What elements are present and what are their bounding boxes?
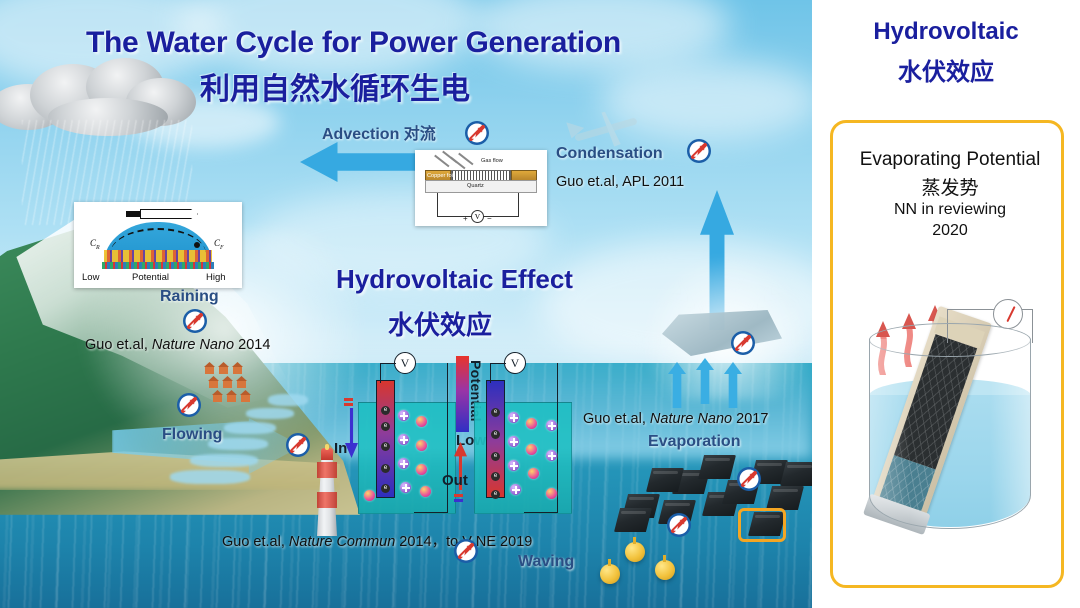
out-label: Out bbox=[442, 472, 468, 489]
card-line-4: 2020 bbox=[833, 222, 1067, 240]
right-panel: Hydrovoltaic 水伏效应 Evaporating Potential … bbox=[812, 0, 1080, 608]
center-heading-english: Hydrovoltaic Effect bbox=[336, 264, 573, 295]
compass-icon[interactable] bbox=[730, 330, 756, 356]
gas-flow-label: Gas flow bbox=[481, 158, 503, 164]
airplane-icon bbox=[560, 104, 652, 150]
terminal-plus: + bbox=[463, 214, 468, 223]
lighthouse bbox=[314, 444, 340, 536]
evaporating-potential-card: Evaporating Potential 蒸发势 NN in reviewin… bbox=[830, 120, 1064, 588]
cell-right-voltmeter: V bbox=[504, 352, 526, 374]
buoy bbox=[600, 564, 620, 584]
label-raining: Raining bbox=[160, 288, 219, 306]
wave-panel bbox=[646, 468, 684, 492]
evaporation-device-illustration bbox=[855, 291, 1049, 563]
compass-icon[interactable] bbox=[464, 120, 490, 146]
buoy bbox=[655, 560, 675, 580]
wave-panel bbox=[698, 455, 736, 479]
right-panel-title-english: Hydrovoltaic bbox=[812, 18, 1080, 46]
cell-left-wire bbox=[380, 363, 396, 383]
label-condensation: Condensation bbox=[556, 145, 663, 163]
pen-arrow-icon bbox=[126, 208, 198, 220]
axis-potential: Potential bbox=[132, 272, 169, 283]
cell-right-wire bbox=[490, 363, 506, 383]
water-cycle-scene: CR CF Low Potential High Gas flow Copper… bbox=[0, 0, 812, 608]
beaker-glass bbox=[869, 339, 1031, 529]
label-cf: CF bbox=[214, 238, 224, 251]
page-title-chinese: 利用自然水循环生电 bbox=[200, 64, 470, 108]
label-advection: Advection 对流 bbox=[322, 120, 436, 144]
compass-icon[interactable] bbox=[686, 138, 712, 164]
citation-nature-nano-2017: Guo et.al, Nature Nano 2017 bbox=[583, 411, 768, 427]
page-title-english: The Water Cycle for Power Generation bbox=[86, 26, 621, 60]
in-label: In bbox=[334, 440, 347, 457]
buoy bbox=[625, 542, 645, 562]
path-endpoint bbox=[194, 242, 200, 248]
cell-left-voltmeter: V bbox=[394, 352, 416, 374]
compass-icon[interactable] bbox=[285, 432, 311, 458]
label-evaporation: Evaporation bbox=[648, 433, 740, 451]
citation-apl-2011: Guo et.al, APL 2011 bbox=[556, 174, 684, 190]
label-flowing: Flowing bbox=[162, 426, 222, 444]
quartz-label: Quartz bbox=[467, 183, 484, 189]
compass-icon[interactable] bbox=[182, 308, 208, 334]
substrate-layer bbox=[102, 262, 214, 269]
cell-left-electrode bbox=[376, 380, 395, 498]
citation-nature-nano-2014: Guo et.al, Nature Nano 2014 bbox=[85, 337, 270, 353]
compass-icon[interactable] bbox=[453, 538, 479, 564]
compass-icon[interactable] bbox=[736, 466, 762, 492]
citation-nature-commun-2014: Guo et.al, Nature Commun 2014，to V NE 20… bbox=[222, 530, 532, 551]
wave-panel bbox=[766, 486, 804, 510]
right-panel-title-chinese: 水伏效应 bbox=[812, 52, 1080, 87]
axis-low: Low bbox=[82, 272, 99, 283]
droplet-potential-inset: CR CF Low Potential High bbox=[74, 202, 242, 288]
card-line-2: 蒸发势 bbox=[833, 173, 1067, 200]
wave-panel bbox=[614, 508, 652, 532]
gas-flow-device-inset: Gas flow Copper foil Quartz V + − bbox=[415, 150, 547, 226]
label-cr: CR bbox=[90, 238, 100, 251]
label-advection-chinese: 对流 bbox=[404, 124, 436, 143]
advection-arrow bbox=[300, 142, 425, 182]
card-line-3: NN in reviewing bbox=[833, 201, 1067, 219]
highlighted-panel-box[interactable] bbox=[738, 508, 786, 542]
center-heading-chinese: 水伏效应 bbox=[388, 305, 492, 342]
infographic-root: CR CF Low Potential High Gas flow Copper… bbox=[0, 0, 1080, 608]
village-houses bbox=[205, 366, 261, 408]
terminal-minus: − bbox=[487, 214, 492, 223]
copper-foil-label: Copper foil bbox=[427, 173, 454, 179]
compass-icon[interactable] bbox=[176, 392, 202, 418]
hydrovoltaic-cell-diagram: V e e e e e In Potential Low bbox=[350, 360, 580, 530]
label-waving: Waving bbox=[518, 553, 574, 571]
voltage-gauge bbox=[993, 299, 1023, 329]
axis-high: High bbox=[206, 272, 226, 283]
card-line-1: Evaporating Potential bbox=[833, 149, 1067, 171]
compass-icon[interactable] bbox=[666, 512, 692, 538]
voltmeter-symbol: V bbox=[471, 210, 484, 223]
